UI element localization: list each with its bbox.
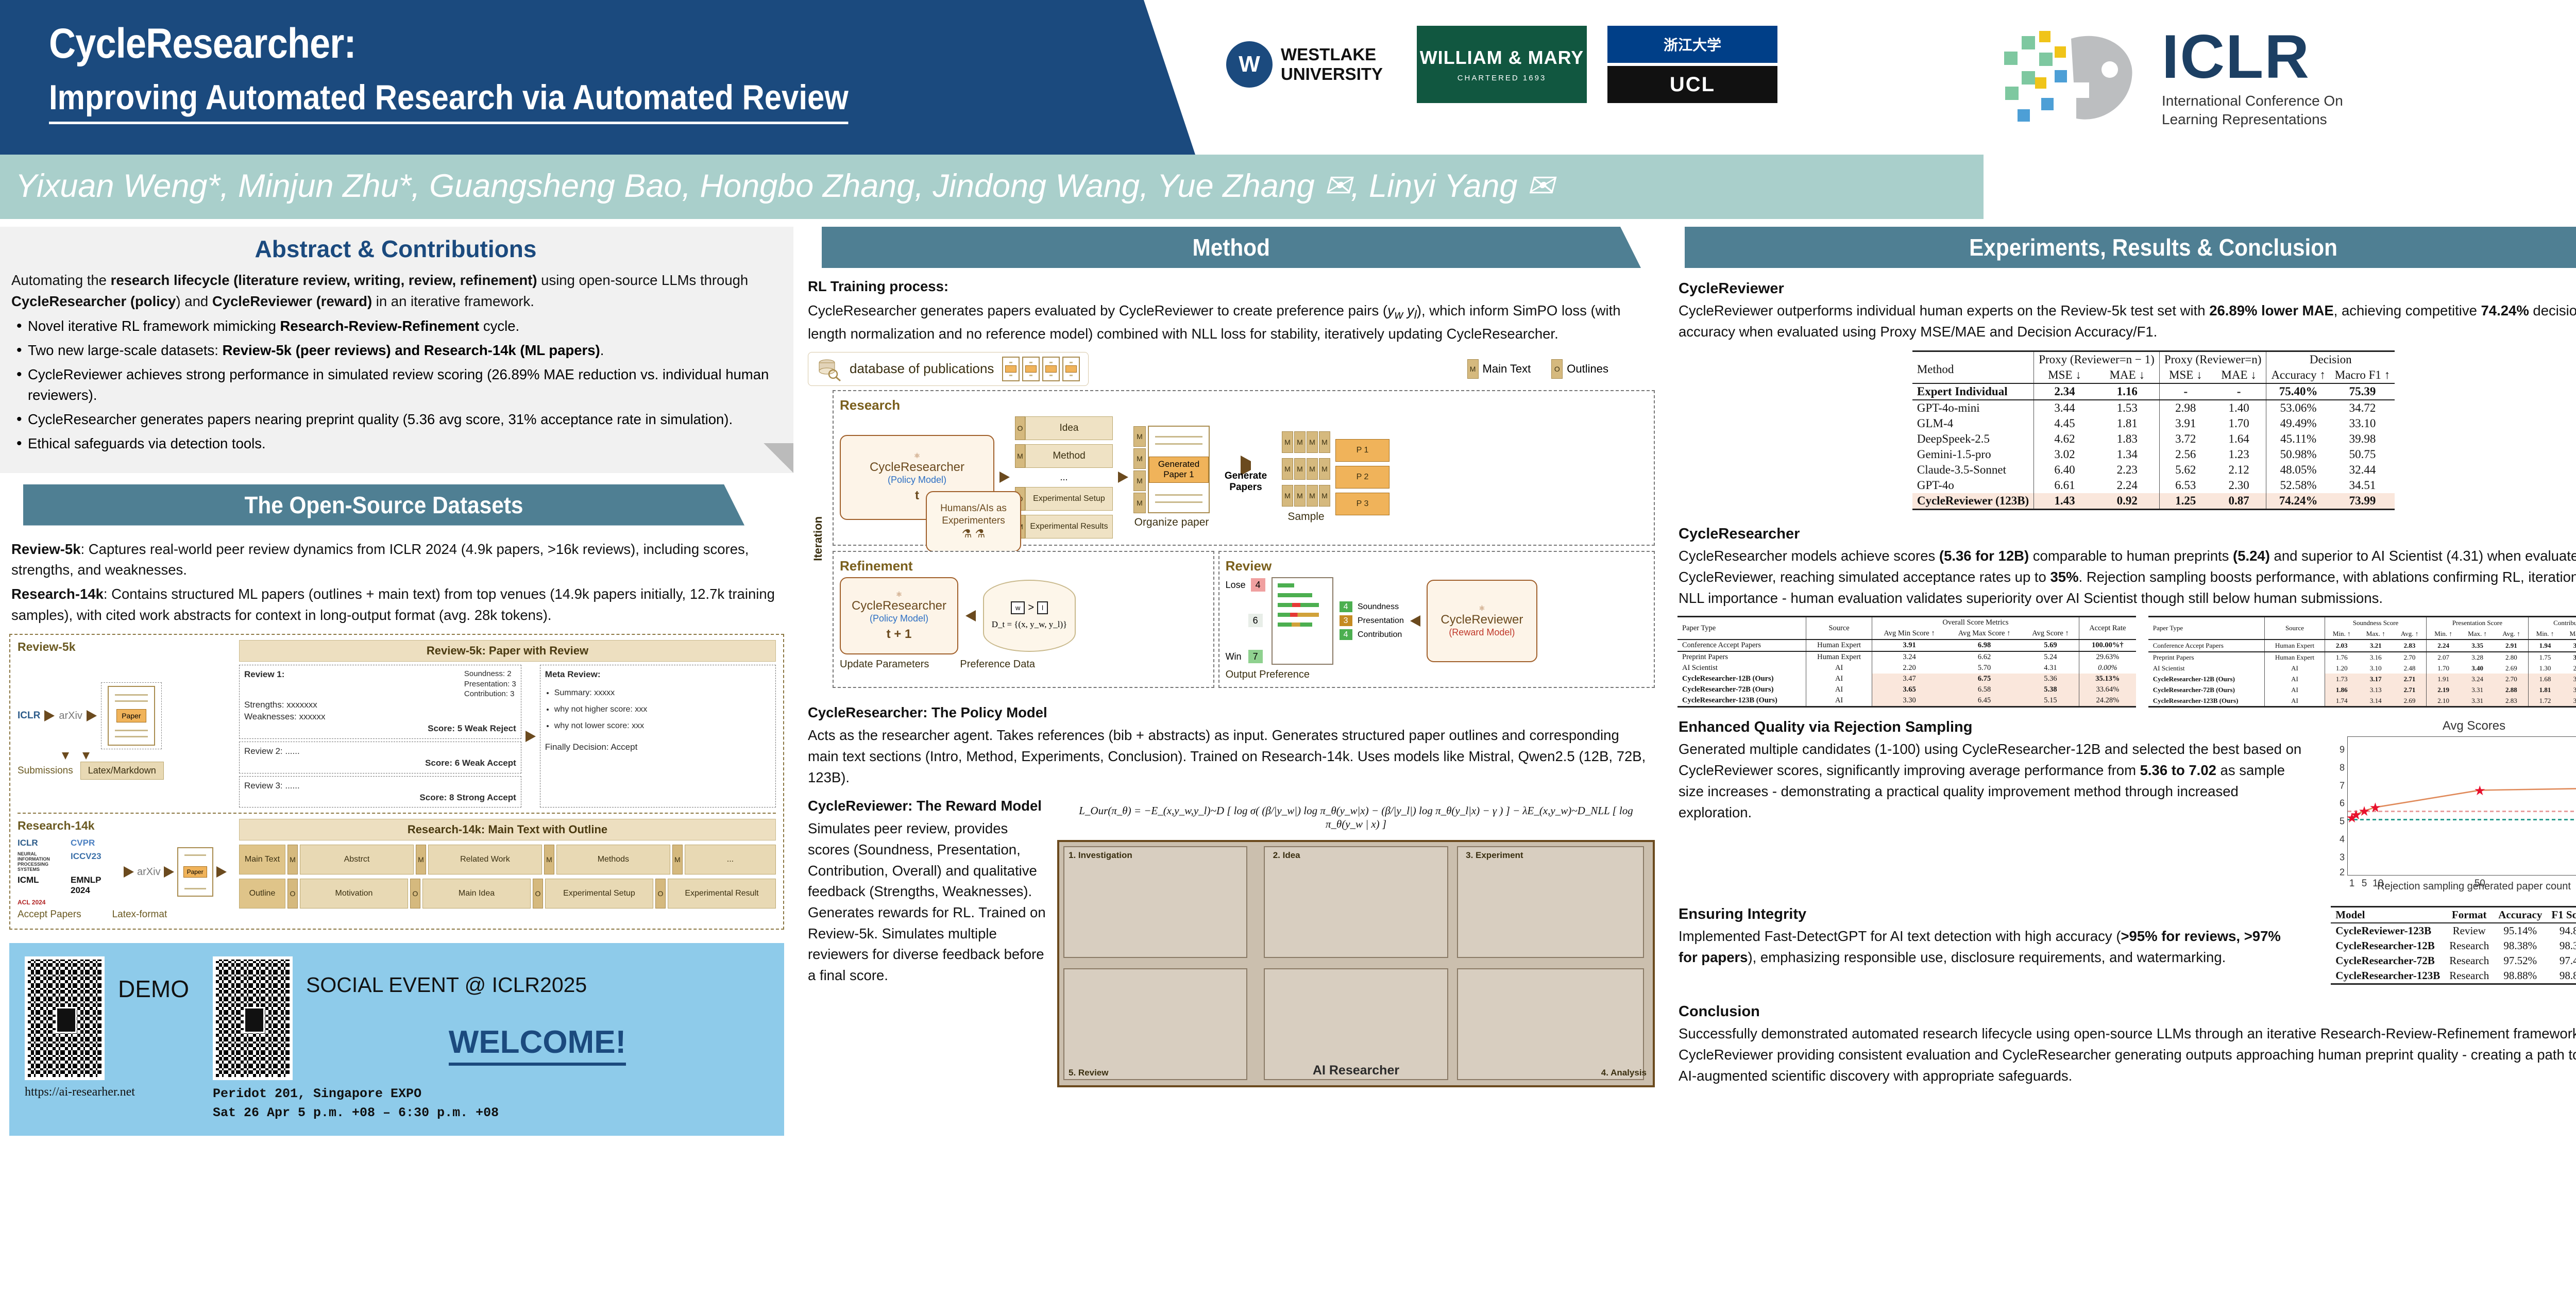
integrity-section: Ensuring Integrity Implemented Fast-Dete… bbox=[1669, 906, 2576, 985]
th-contribution: Contribution Score bbox=[2528, 617, 2576, 629]
cell: 6.58 bbox=[1946, 684, 2022, 695]
o-tag: O bbox=[410, 879, 420, 909]
left-column: Abstract & Contributions Automating the … bbox=[0, 227, 793, 1136]
cell: 3.91 bbox=[1872, 640, 1946, 651]
iclr-logo-block: ICLR International Conference On Learnin… bbox=[1984, 0, 2576, 155]
doc-icon bbox=[1022, 357, 1040, 381]
th-overall: Overall Score Metrics bbox=[1872, 617, 2079, 629]
th-proxy-n: Proxy (Reviewer=n) bbox=[2159, 351, 2266, 368]
contribution-item: CycleReviewer achieves strong performanc… bbox=[11, 364, 780, 406]
cell: CycleResearcher-72B (Ours) bbox=[1677, 684, 1806, 695]
chain-node: ... bbox=[685, 845, 776, 874]
paper-tag: Paper bbox=[116, 709, 146, 722]
cell: DeepSpeek-2.5 bbox=[1912, 431, 2034, 447]
cell: 4.62 bbox=[2034, 431, 2095, 447]
cell: 3.31 bbox=[2460, 684, 2495, 695]
cell: 98.37 bbox=[2547, 938, 2576, 953]
th-format: Format bbox=[2445, 907, 2494, 923]
event-venue: Peridot 201, Singapore EXPO bbox=[213, 1086, 769, 1101]
soundness-score: 4 bbox=[1340, 601, 1352, 612]
cell: 3.13 bbox=[2359, 684, 2393, 695]
th-avg: Avg. ↑ bbox=[2393, 628, 2427, 640]
research14k-subfigure: Research-14k ICLR CVPR NEURAL INFORMATIO… bbox=[18, 819, 776, 921]
iclr-fullname: International Conference On Learning Rep… bbox=[2162, 92, 2343, 129]
cell: 5.38 bbox=[2022, 684, 2079, 695]
avg-scores-chart: Avg Scores 9 8 7 6 5 4 3 2 ★ ★ bbox=[2319, 719, 2576, 893]
cell: Human Expert bbox=[2265, 652, 2325, 663]
y-tick: 3 bbox=[2340, 852, 2345, 863]
research14k-description: Research-14k: Contains structured ML pap… bbox=[11, 584, 780, 626]
th-mse2: MSE ↓ bbox=[2159, 367, 2211, 383]
right-column: Experiments, Results & Conclusion CycleR… bbox=[1669, 227, 2576, 1087]
rejection-heading: Enhanced Quality via Rejection Sampling bbox=[1679, 719, 2309, 736]
cell: 94.89 bbox=[2547, 923, 2576, 938]
review-label: Review bbox=[1226, 558, 1648, 574]
exp-setup-node: Experimental Setup bbox=[1025, 487, 1113, 511]
middle-column: Method RL Training process: CycleResearc… bbox=[804, 227, 1659, 1087]
chain-node: Main Idea bbox=[422, 879, 531, 909]
cell: 2.48 bbox=[2393, 663, 2427, 674]
poster-title-line1: CycleResearcher: bbox=[49, 20, 356, 68]
cyclereviewer-node: ⚛ CycleReviewer (Reward Model) bbox=[1427, 580, 1537, 662]
cell: 24.28% bbox=[2079, 695, 2136, 707]
m-tag: M bbox=[1133, 470, 1146, 491]
contribution-item: Ethical safeguards via detection tools. bbox=[11, 433, 780, 454]
cell: 1.94 bbox=[2528, 640, 2562, 651]
cycleresearcher-results: CycleResearcher CycleResearcher models a… bbox=[1669, 510, 2576, 609]
author-bar: Yixuan Weng*, Minjun Zhu*, Guangsheng Ba… bbox=[0, 155, 1984, 219]
social-qr-code[interactable] bbox=[213, 956, 293, 1080]
paper-tag: Paper bbox=[183, 866, 207, 878]
ucl-logo: UCL bbox=[1607, 66, 1777, 103]
latex-format-label: Latex-format bbox=[112, 909, 167, 920]
venue-logo-iccv: ICCV23 bbox=[71, 851, 121, 872]
arrow-icon bbox=[87, 710, 97, 721]
cell: 1.70 bbox=[2212, 416, 2266, 431]
cell: 100.00%† bbox=[2079, 640, 2136, 651]
panel-investigation bbox=[1063, 846, 1247, 958]
cell: 3.07 bbox=[2562, 674, 2576, 684]
policy-model-section: CycleResearcher: The Policy Model Acts a… bbox=[804, 694, 1659, 788]
rejection-body: Generated multiple candidates (1-100) us… bbox=[1679, 739, 2309, 823]
cell: 39.98 bbox=[2330, 431, 2395, 447]
cell: 3.13 bbox=[2562, 652, 2576, 663]
accept-papers-label: Accept Papers bbox=[18, 909, 81, 920]
cell: 1.20 bbox=[2325, 663, 2358, 674]
method-diagram: database of publications M Main Text O O… bbox=[808, 352, 1655, 688]
preference-data-label: Preference Data bbox=[960, 659, 1035, 670]
cell: CycleResearcher-123B (Ours) bbox=[1677, 695, 1806, 707]
meta-review-box: Meta Review: Summary: xxxxx why not high… bbox=[540, 665, 776, 808]
m-tag: M bbox=[1015, 444, 1025, 468]
table-row: Preprint PapersHuman Expert 1.763.162.70… bbox=[2148, 652, 2576, 663]
integrity-body: Implemented Fast-DetectGPT for AI text d… bbox=[1679, 926, 2289, 968]
rl-training-text: RL Training process: CycleResearcher gen… bbox=[804, 268, 1659, 345]
cell: 5.70 bbox=[1946, 663, 2022, 674]
cell: 5.69 bbox=[2022, 640, 2079, 651]
demo-qr-code[interactable] bbox=[25, 956, 105, 1080]
cell: 74.24% bbox=[2266, 493, 2330, 510]
legend-main-text: Main Text bbox=[1483, 362, 1531, 376]
cell: 48.05% bbox=[2266, 462, 2330, 478]
y-tick: 7 bbox=[2340, 780, 2345, 791]
step-t-plus-1: t + 1 bbox=[887, 627, 912, 642]
research-label: Research bbox=[840, 397, 1648, 413]
table-row: Claude-3.5-Sonnet 6.402.23 5.622.12 48.0… bbox=[1912, 462, 2395, 478]
step-t: t bbox=[915, 489, 919, 503]
table-row: CycleResearcher-12B Research 98.38% 98.3… bbox=[2331, 938, 2576, 953]
review-2-label: Review 2: ...... bbox=[244, 746, 516, 758]
th-source: Source bbox=[2265, 617, 2325, 640]
legend-o-icon: O bbox=[1551, 359, 1563, 379]
datasets-banner: The Open-Source Datasets bbox=[23, 484, 744, 526]
o-tag: O bbox=[1015, 416, 1025, 440]
cell: 32.44 bbox=[2330, 462, 2395, 478]
presentation-score: 3 bbox=[1340, 615, 1352, 626]
chain-node: Motivation bbox=[300, 879, 408, 909]
cell: AI bbox=[2265, 674, 2325, 684]
cell: Preprint Papers bbox=[1677, 651, 1806, 663]
review5k-figure-label: Review-5k bbox=[18, 640, 234, 654]
cell: 95.14% bbox=[2494, 923, 2547, 938]
cell: 45.11% bbox=[2266, 431, 2330, 447]
m-tag: M bbox=[1133, 493, 1146, 513]
westlake-mark-icon: W bbox=[1226, 41, 1273, 88]
venue-logo-iclr: ICLR bbox=[18, 838, 67, 848]
th-mae1: MAE ↓ bbox=[2095, 367, 2160, 383]
venue-logo-emnlp: EMNLP 2024 bbox=[71, 875, 121, 896]
cell: 1.34 bbox=[2095, 447, 2160, 462]
cell: 1.16 bbox=[2095, 383, 2160, 400]
cell: 97.52% bbox=[2494, 953, 2547, 968]
iclr-wordmark: ICLR International Conference On Learnin… bbox=[2162, 26, 2343, 129]
cell: 2.88 bbox=[2495, 684, 2528, 695]
cell: CycleResearcher-123B bbox=[2331, 968, 2445, 984]
th-paper-type: Paper Type bbox=[2148, 617, 2265, 640]
social-qr-group: SOCIAL EVENT @ ICLR2025 WELCOME! Peridot… bbox=[213, 956, 769, 1120]
cell: Research bbox=[2445, 968, 2494, 984]
m-tag: M bbox=[1133, 448, 1146, 469]
ai-researcher-caption: AI Researcher bbox=[1059, 1063, 1653, 1078]
table-row: GPT-4o-mini 3.441.53 2.981.40 53.06%34.7… bbox=[1912, 400, 2395, 416]
th-model: Model bbox=[2331, 907, 2445, 923]
humans-ais-node: Humans/AIs as Experimenters ⚗ ⚗ bbox=[926, 491, 1021, 552]
th-presentation: Presentation Score bbox=[2427, 617, 2528, 629]
cell: AI bbox=[2265, 695, 2325, 707]
arrow-icon bbox=[526, 731, 536, 742]
cell: Conference Accept Papers bbox=[2148, 640, 2265, 651]
cell: 1.64 bbox=[2212, 431, 2266, 447]
paper-p1: P 1 bbox=[1335, 439, 1389, 462]
cell: 35.13% bbox=[2079, 674, 2136, 684]
venue-logo-icml: ICML bbox=[18, 875, 67, 896]
chain-node: Experimental Result bbox=[668, 879, 776, 909]
paper-icon: Paper bbox=[108, 686, 155, 746]
table-row: GLM-4 4.451.81 3.911.70 49.49%33.10 bbox=[1912, 416, 2395, 431]
cell: AI Scientist bbox=[2148, 663, 2265, 674]
conclusion-body: Successfully demonstrated automated rese… bbox=[1679, 1023, 2576, 1086]
cell: 98.38% bbox=[2494, 938, 2547, 953]
review-1-box: Review 1: Soundness: 2 Presentation: 3 C… bbox=[239, 665, 521, 738]
cell: 1.91 bbox=[2427, 674, 2460, 684]
demo-url[interactable]: https://ai-researher.net bbox=[25, 1085, 189, 1099]
meta-item: Summary: xxxxx bbox=[554, 685, 771, 701]
cycleresearcher-results-heading: CycleResearcher bbox=[1679, 526, 2576, 543]
output-preference-label: Output Preference bbox=[1226, 669, 1648, 681]
cell: 3.91 bbox=[2159, 416, 2211, 431]
cell: 3.47 bbox=[1872, 674, 1946, 684]
cell: 1.81 bbox=[2095, 416, 2160, 431]
meta-item: why not higher score: xxx bbox=[554, 701, 771, 718]
review-2-score: Score: 6 Weak Accept bbox=[244, 758, 516, 769]
cell: 6.40 bbox=[2034, 462, 2095, 478]
table-row: CycleResearcher-123B Research 98.88% 98.… bbox=[2331, 968, 2576, 984]
m-tag: M bbox=[416, 845, 426, 874]
cell: CycleResearcher-72B bbox=[2331, 953, 2445, 968]
wm-name: WILLIAM & MARY bbox=[1420, 47, 1584, 69]
mid-score: 6 bbox=[1248, 614, 1263, 627]
th-decision: Decision bbox=[2266, 351, 2395, 368]
cell: 4.45 bbox=[2034, 416, 2095, 431]
cell: 1.74 bbox=[2325, 695, 2358, 707]
cell: 0.92 bbox=[2095, 493, 2160, 510]
iclr-venue-icon: ICLR bbox=[18, 710, 40, 721]
loss-equation: L_Our(π_θ) = −E_(x,y_w,y_l)~D [ log σ( (… bbox=[1061, 804, 1651, 831]
cell: 34.72 bbox=[2330, 400, 2395, 416]
table-row-top: Conference Accept Papers Human Expert 3.… bbox=[1677, 640, 2136, 651]
table-overall-scores: Paper Type Source Overall Score Metrics … bbox=[1677, 616, 2136, 708]
cell: 1.86 bbox=[2325, 684, 2358, 695]
cell: Claude-3.5-Sonnet bbox=[1912, 462, 2034, 478]
panel-experiment bbox=[1457, 846, 1644, 958]
cell: 1.68 bbox=[2528, 674, 2562, 684]
cell: Research bbox=[2445, 953, 2494, 968]
table-row: DeepSpeek-2.5 4.621.83 3.721.64 45.11%39… bbox=[1912, 431, 2395, 447]
cell: 1.30 bbox=[2528, 663, 2562, 674]
cell: 2.56 bbox=[2159, 447, 2211, 462]
arrow-icon bbox=[1118, 472, 1128, 483]
review-2-box: Review 2: ...... Score: 6 Weak Accept bbox=[239, 742, 521, 773]
cell: CycleResearcher-12B (Ours) bbox=[2148, 674, 2265, 684]
doc-icon bbox=[1042, 357, 1060, 381]
arrow-icon bbox=[1410, 615, 1420, 627]
policy-model-tag: (Policy Model) bbox=[870, 613, 928, 624]
research14k-figure-label: Research-14k bbox=[18, 819, 234, 833]
table-header-row: Model Format Accuracy F1 Score bbox=[2331, 907, 2576, 923]
cell: 50.75 bbox=[2330, 447, 2395, 462]
x-tick: 50 bbox=[2475, 878, 2485, 889]
review-1-label: Review 1: bbox=[244, 669, 284, 699]
cyclereviewer-results-body: CycleReviewer outperforms individual hum… bbox=[1679, 300, 2576, 342]
arrow-icon bbox=[44, 710, 55, 721]
cell: 2.34 bbox=[2034, 383, 2095, 400]
datasets-heading: The Open-Source Datasets bbox=[245, 491, 523, 519]
review-1-score: Score: 5 Weak Reject bbox=[244, 723, 516, 735]
panel-idea bbox=[1264, 846, 1448, 958]
cell: 33.64% bbox=[2079, 684, 2136, 695]
event-time: Sat 26 Apr 5 p.m. +08 – 6:30 p.m. +08 bbox=[213, 1105, 769, 1120]
chart-plot-area: 9 8 7 6 5 4 3 2 ★ ★ ★ ★ bbox=[2347, 736, 2576, 876]
soundness-label: Soundness bbox=[1358, 602, 1399, 611]
cell: 2.69 bbox=[2495, 663, 2528, 674]
arxiv-icon: arXiv bbox=[137, 866, 161, 878]
cell: 2.30 bbox=[2212, 478, 2266, 493]
review5k-banner: Review-5k: Paper with Review bbox=[239, 640, 776, 662]
cell: GLM-4 bbox=[1912, 416, 2034, 431]
cycleresearcher-name: CycleResearcher bbox=[852, 599, 946, 613]
policy-model-heading: CycleResearcher: The Policy Model bbox=[808, 702, 1653, 724]
table-row: AI Scientist AI 2.205.704.31 0.00% bbox=[1677, 663, 2136, 674]
th-max: Max. ↑ bbox=[2460, 628, 2495, 640]
submissions-label: Submissions bbox=[18, 765, 73, 777]
cell: 0.87 bbox=[2212, 493, 2266, 510]
rl-training-heading: RL Training process: bbox=[808, 276, 1653, 297]
westlake-name: WESTLAKE UNIVERSITY bbox=[1281, 45, 1383, 84]
rejection-sampling-section: Enhanced Quality via Rejection Sampling … bbox=[1669, 719, 2576, 893]
arrow-icon bbox=[965, 610, 976, 621]
cell: 53.06% bbox=[2266, 400, 2330, 416]
cell: 5.36 bbox=[2022, 674, 2079, 684]
cell: 6.53 bbox=[2159, 478, 2211, 493]
venue-logo-cvpr: CVPR bbox=[71, 838, 121, 848]
cell: 6.45 bbox=[1946, 695, 2022, 707]
cell: 3.16 bbox=[2359, 652, 2393, 663]
cell: 3.35 bbox=[2460, 640, 2495, 651]
table-row: CycleReviewer-123B Review 95.14% 94.89 bbox=[2331, 923, 2576, 938]
cycleresearcher-updated-node: ⚛ CycleResearcher (Policy Model) t + 1 bbox=[840, 577, 958, 654]
o-tag: O bbox=[287, 879, 298, 909]
pref-win-doc: w bbox=[1011, 601, 1025, 614]
generate-papers-label: Generate Papers bbox=[1215, 470, 1277, 493]
chain-node: Methods bbox=[556, 845, 670, 874]
cell: 1.23 bbox=[2212, 447, 2266, 462]
cell: 1.53 bbox=[2095, 400, 2160, 416]
cell: 2.24 bbox=[2427, 640, 2460, 651]
th-f1: F1 Score bbox=[2547, 907, 2576, 923]
table-row: CycleResearcher-123B (Ours)AI 1.743.142.… bbox=[2148, 695, 2576, 707]
table-detection-accuracy: Model Format Accuracy F1 Score CycleRevi… bbox=[2331, 906, 2576, 985]
cell: CycleResearcher-12B (Ours) bbox=[1677, 674, 1806, 684]
table-dimension-scores: Paper Type Source Soundness Score Presen… bbox=[2148, 616, 2576, 708]
table-row: CycleResearcher-12B (Ours)AI 1.733.172.7… bbox=[2148, 674, 2576, 684]
loss-equation-text: L_Our(π_θ) = −E_(x,y_w,y_l)~D [ log σ( (… bbox=[1079, 804, 1633, 830]
cell: CycleResearcher-123B (Ours) bbox=[2148, 695, 2265, 707]
demo-label: DEMO bbox=[118, 956, 189, 1003]
cell: - bbox=[2212, 383, 2266, 400]
chart-line bbox=[2348, 737, 2576, 875]
cell: 3.65 bbox=[1872, 684, 1946, 695]
preference-formula: D_t = {(x, y_w, y_l)} bbox=[992, 619, 1067, 630]
cell: Human Expert bbox=[1806, 651, 1872, 663]
doc-icon bbox=[1062, 357, 1080, 381]
update-parameters-label: Update Parameters bbox=[840, 659, 929, 670]
cell: 2.23 bbox=[2095, 462, 2160, 478]
cell: 3.17 bbox=[2562, 640, 2576, 651]
table-row: AI ScientistAI 1.203.102.48 1.703.402.69… bbox=[2148, 663, 2576, 674]
main-text-node: Main Text bbox=[239, 845, 285, 874]
review-block: Review Lose 4 6 Win 7 bbox=[1218, 551, 1655, 688]
paper-p3: P 3 bbox=[1335, 493, 1389, 515]
cell: 2.98 bbox=[2159, 400, 2211, 416]
cell: Human Expert bbox=[1806, 640, 1872, 651]
y-tick: 4 bbox=[2340, 834, 2345, 845]
ai-researcher-illustration: 1. Investigation 2. Idea 3. Experiment 5… bbox=[1057, 840, 1655, 1087]
cell: 2.91 bbox=[2495, 640, 2528, 651]
experiments-heading: Experiments, Results & Conclusion bbox=[1970, 233, 2338, 261]
method-banner: Method bbox=[822, 227, 1641, 268]
data-point: ★ bbox=[2358, 804, 2370, 818]
cell: AI bbox=[2265, 684, 2325, 695]
th-min: Min. ↑ bbox=[2427, 628, 2460, 640]
y-tick: 2 bbox=[2340, 867, 2345, 878]
arrow-icon bbox=[124, 866, 134, 878]
cell: CycleResearcher-72B (Ours) bbox=[2148, 684, 2265, 695]
experiments-banner: Experiments, Results & Conclusion bbox=[1685, 227, 2576, 268]
panel-label-3: 3. Experiment bbox=[1466, 850, 1523, 861]
cell: 34.51 bbox=[2330, 478, 2395, 493]
table-row: GPT-4o 6.612.24 6.532.30 52.58%34.51 bbox=[1912, 478, 2395, 493]
cell: 2.71 bbox=[2393, 684, 2427, 695]
cell: 4.31 bbox=[2022, 663, 2079, 674]
review-sheet-icon bbox=[1272, 577, 1333, 665]
cell: 6.75 bbox=[1946, 674, 2022, 684]
cell: 3.72 bbox=[2159, 431, 2211, 447]
cell: 1.70 bbox=[2427, 663, 2460, 674]
cell: AI Scientist bbox=[1677, 663, 1806, 674]
cell: 2.70 bbox=[2495, 674, 2528, 684]
th-mse1: MSE ↓ bbox=[2034, 367, 2095, 383]
th-accuracy: Accuracy bbox=[2494, 907, 2547, 923]
chart-xlabel: Rejection sampling generated paper count bbox=[2319, 881, 2576, 893]
table-row: Preprint Papers Human Expert 3.246.625.2… bbox=[1677, 651, 2136, 663]
table-row: CycleResearcher-123B (Ours) AI 3.306.455… bbox=[1677, 695, 2136, 707]
arrow-icon bbox=[999, 472, 1010, 483]
cell: AI bbox=[1806, 695, 1872, 707]
cell: 3.28 bbox=[2460, 652, 2495, 663]
database-label: database of publications bbox=[850, 361, 994, 377]
cell: Conference Accept Papers bbox=[1677, 640, 1806, 651]
contribution-bullets: Novel iterative RL framework mimicking R… bbox=[11, 316, 780, 453]
chain-node: Experimental Setup bbox=[545, 879, 653, 909]
cell: AI bbox=[2265, 663, 2325, 674]
cell: 2.83 bbox=[2393, 640, 2427, 651]
cell: GPT-4o bbox=[1912, 478, 2034, 493]
cell: 2.80 bbox=[2495, 652, 2528, 663]
data-point: ★ bbox=[2474, 784, 2486, 797]
venue-logo-neurips: NEURAL INFORMATION PROCESSING SYSTEMS bbox=[18, 851, 67, 872]
cyclereviewer-results-heading: CycleReviewer bbox=[1679, 280, 2576, 297]
cell: 33.10 bbox=[2330, 416, 2395, 431]
cell: 97.49 bbox=[2547, 953, 2576, 968]
abstract-heading: Abstract & Contributions bbox=[11, 227, 780, 270]
doc-icon bbox=[1002, 357, 1020, 381]
table-row: CycleResearcher-12B (Ours) AI 3.476.755.… bbox=[1677, 674, 2136, 684]
data-point: ★ bbox=[2369, 801, 2381, 814]
poster-header: CycleResearcher: Improving Automated Res… bbox=[0, 0, 2576, 155]
cell: 49.49% bbox=[2266, 416, 2330, 431]
cell: 29.63% bbox=[2079, 651, 2136, 663]
chain-node: Abstrct bbox=[300, 845, 414, 874]
cell: 1.40 bbox=[2212, 400, 2266, 416]
cell: CycleReviewer (123B) bbox=[1912, 493, 2034, 510]
cell: 3.24 bbox=[1872, 651, 1946, 663]
cell: Review bbox=[2445, 923, 2494, 938]
cyclereviewer-results: CycleReviewer CycleReviewer outperforms … bbox=[1669, 268, 2576, 342]
rl-training-body: CycleResearcher generates papers evaluat… bbox=[808, 300, 1653, 345]
strengths-line: Strengths: xxxxxxx bbox=[244, 699, 516, 711]
contribution-item: CycleResearcher generates papers nearing… bbox=[11, 409, 780, 430]
table-row-expert: Expert Individual 2.34 1.16 - - 75.40% 7… bbox=[1912, 383, 2395, 400]
